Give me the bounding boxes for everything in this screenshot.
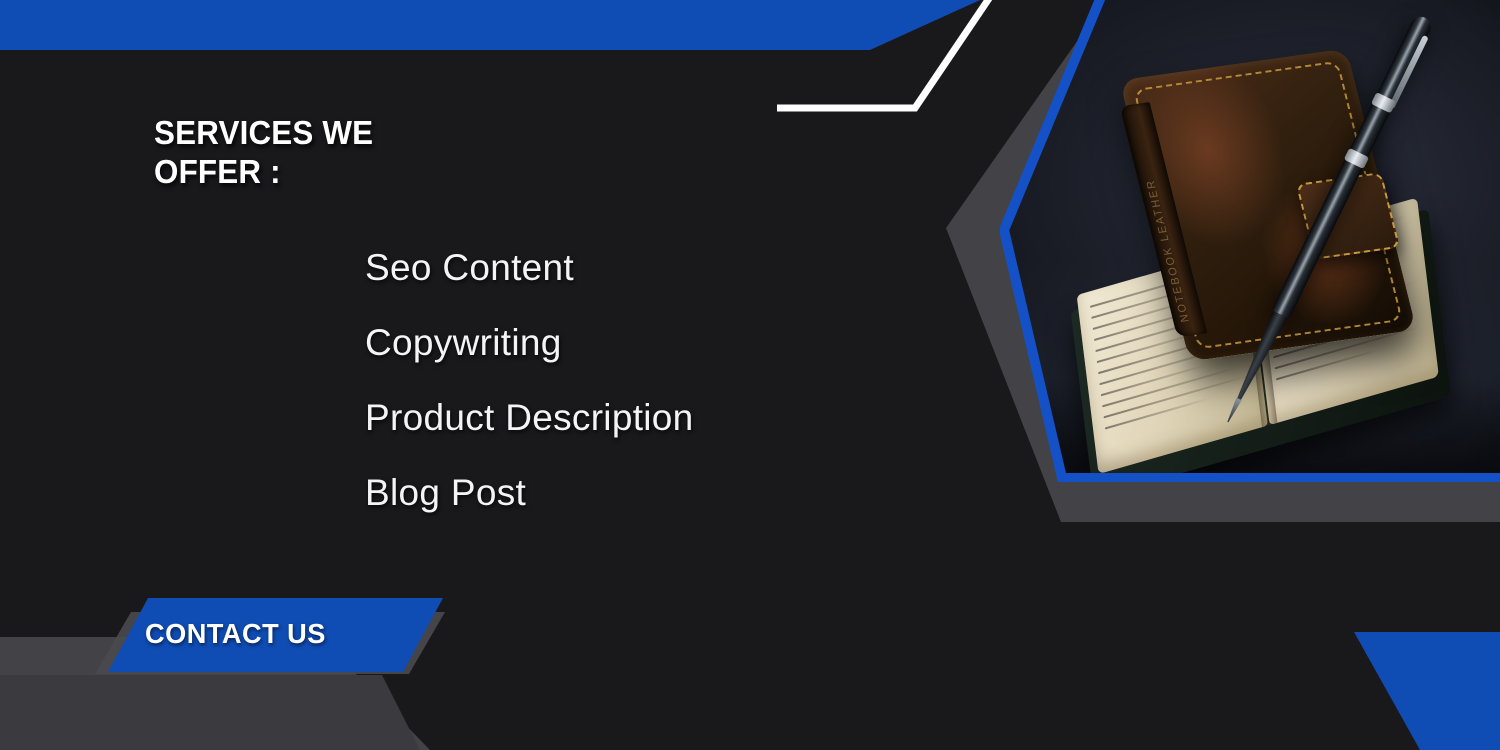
list-item: Copywriting — [365, 305, 694, 380]
contact-us-label: CONTACT US — [145, 618, 326, 650]
photo-vignette — [1004, 0, 1500, 478]
list-item: Seo Content — [365, 230, 694, 305]
contact-us-button[interactable]: CONTACT US — [108, 598, 443, 672]
services-list: Seo Content Copywriting Product Descript… — [365, 230, 694, 530]
slide-canvas: NOTEBOOK LEATHER SERVICES WE OFFER : Seo… — [0, 0, 1500, 750]
product-image: NOTEBOOK LEATHER — [1004, 0, 1500, 478]
page-title: SERVICES WE OFFER : — [154, 113, 373, 191]
bottom-left-grey-wedge-2 — [0, 675, 430, 750]
bottom-right-blue-wedge — [1350, 632, 1500, 750]
list-item: Product Description — [365, 380, 694, 455]
white-elbow-line-icon — [770, 0, 1000, 125]
list-item: Blog Post — [365, 455, 694, 530]
product-photo-scene: NOTEBOOK LEATHER — [1004, 0, 1500, 478]
